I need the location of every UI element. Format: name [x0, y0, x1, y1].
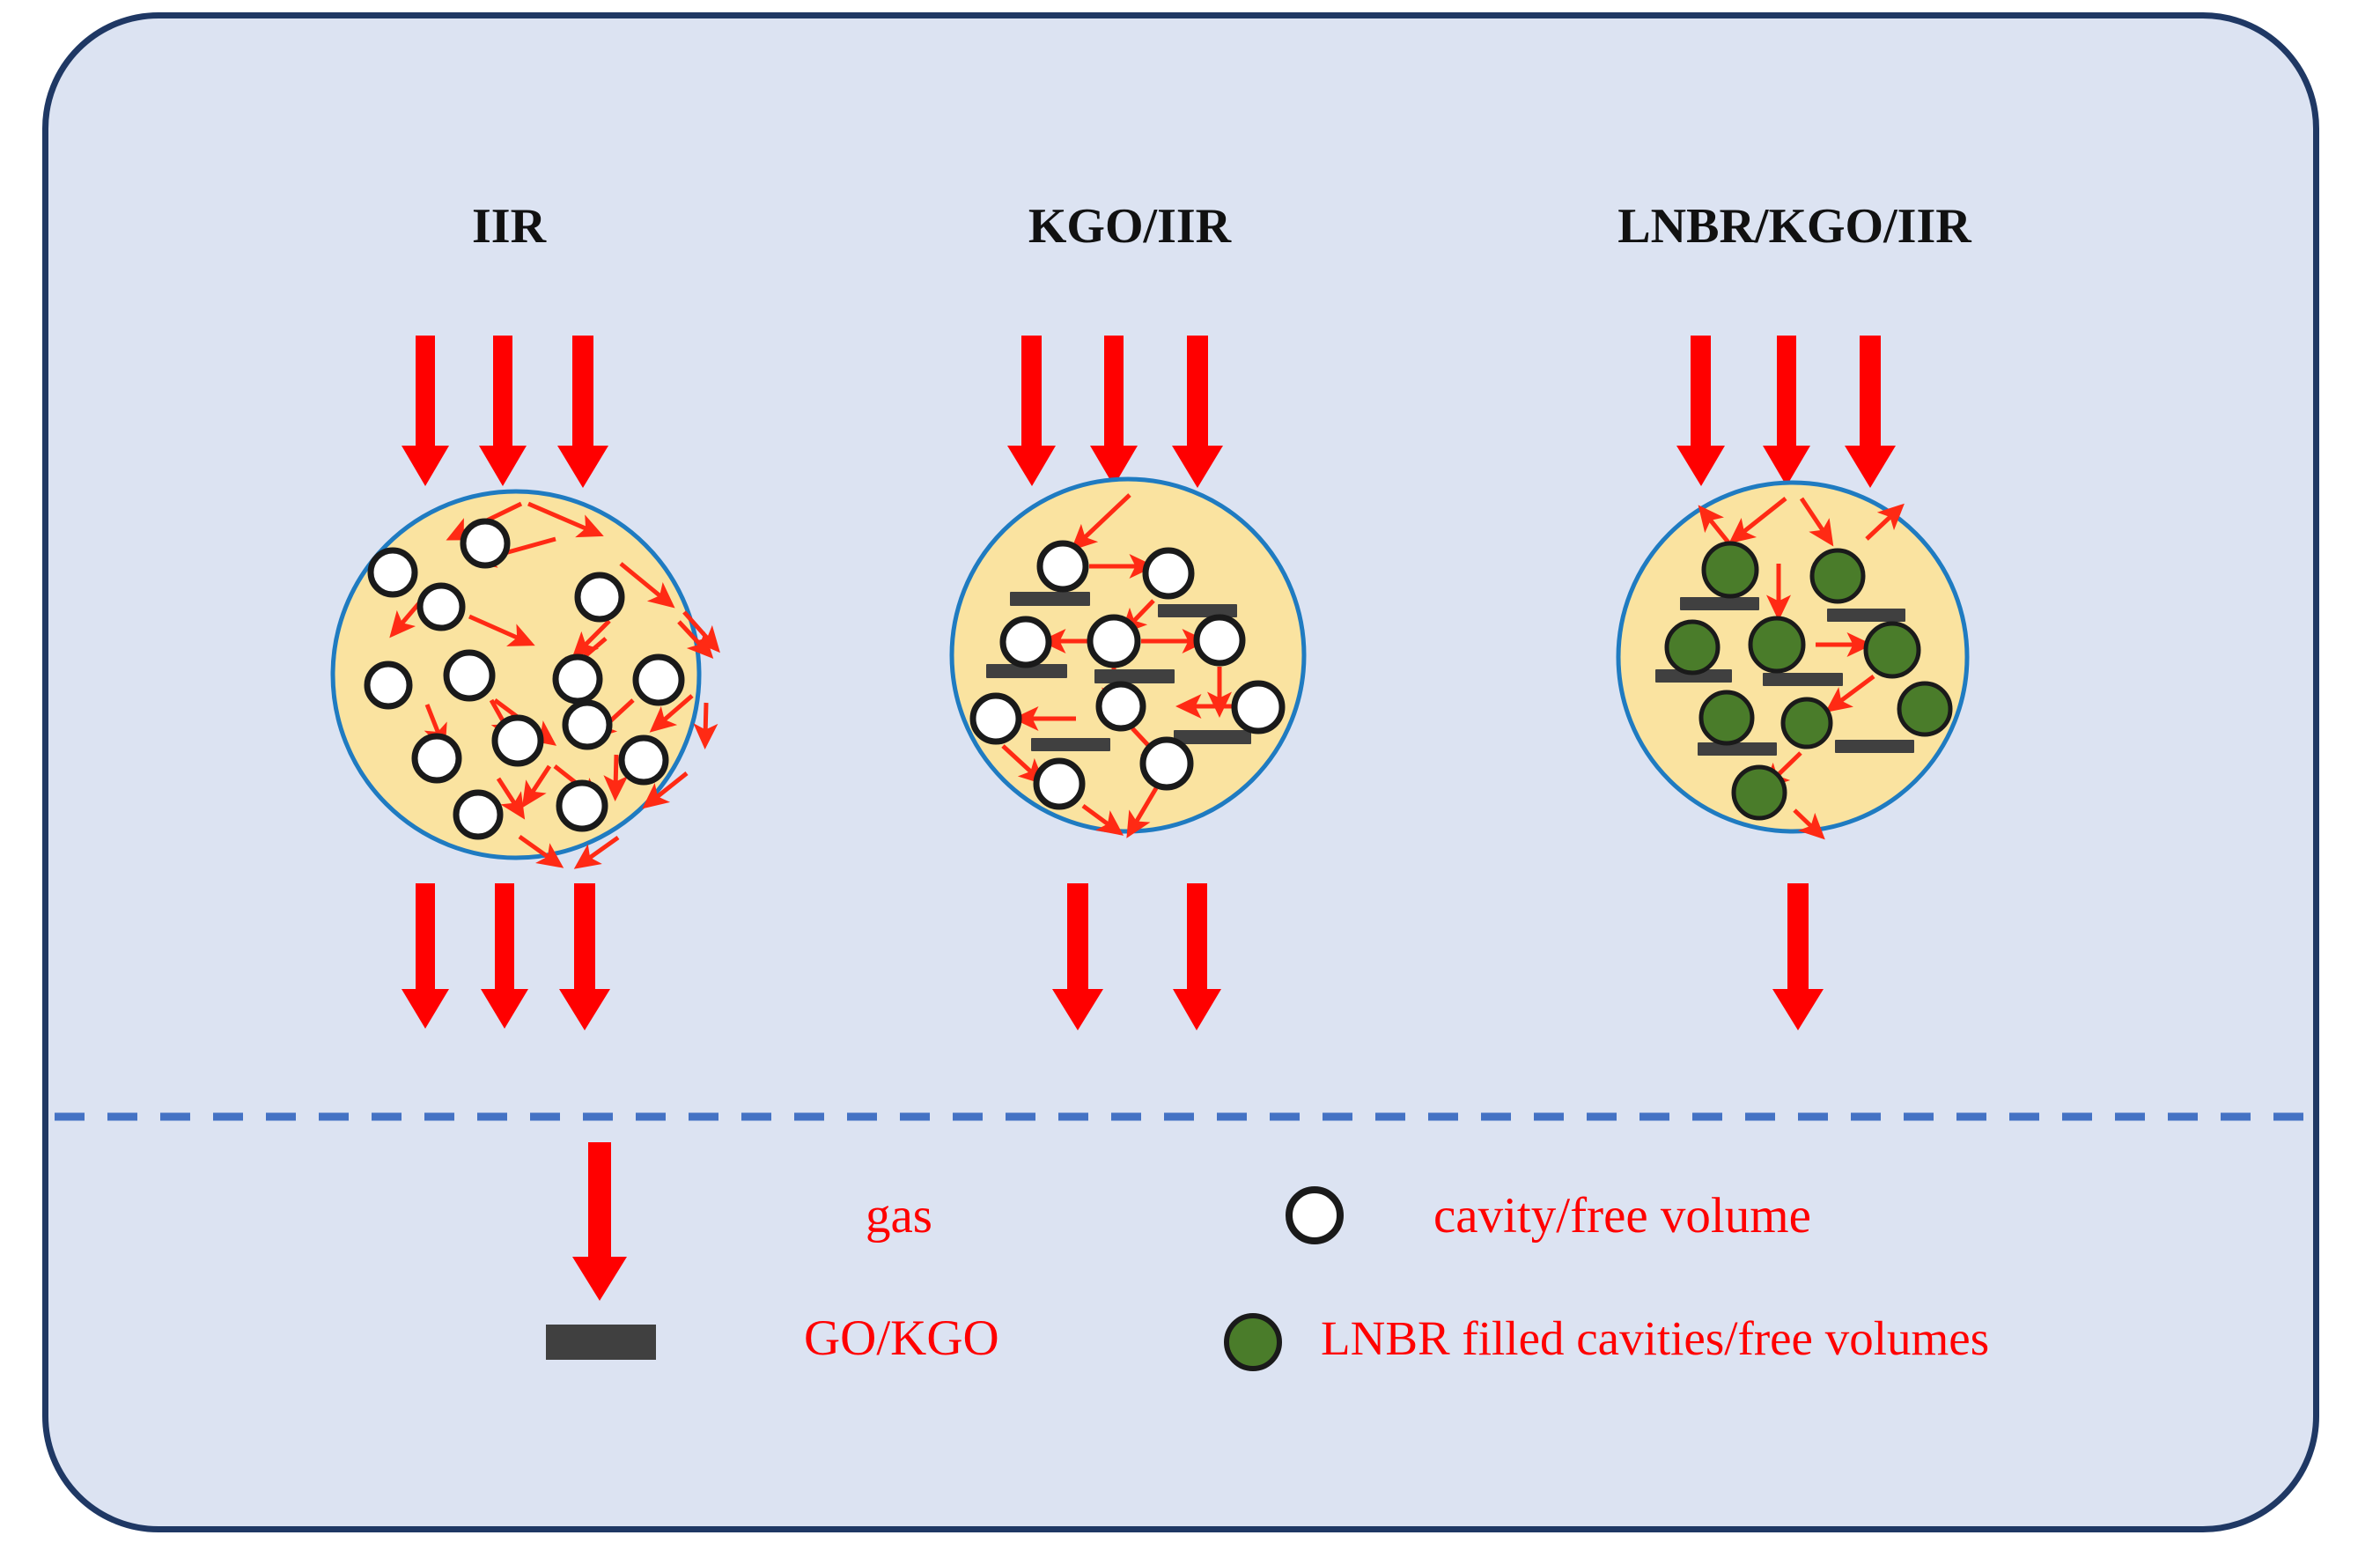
legend-label-go-kgo: GO/KGO — [804, 1310, 999, 1367]
column-title-lnbr-kgo-iir: LNBR/KGO/IIR — [1566, 198, 2023, 255]
legend-label-lnbr: LNBR filled cavities/free volumes — [1321, 1310, 1989, 1366]
figure-root: IIR KGO/IIR LNBR/KGO/IIR — [0, 0, 2380, 1550]
column-title-kgo-iir: KGO/IIR — [980, 198, 1279, 255]
legend-label-cavity: cavity/free volume — [1433, 1187, 1811, 1244]
column-title-iir: IIR — [359, 198, 659, 255]
legend-label-gas: gas — [866, 1187, 932, 1244]
